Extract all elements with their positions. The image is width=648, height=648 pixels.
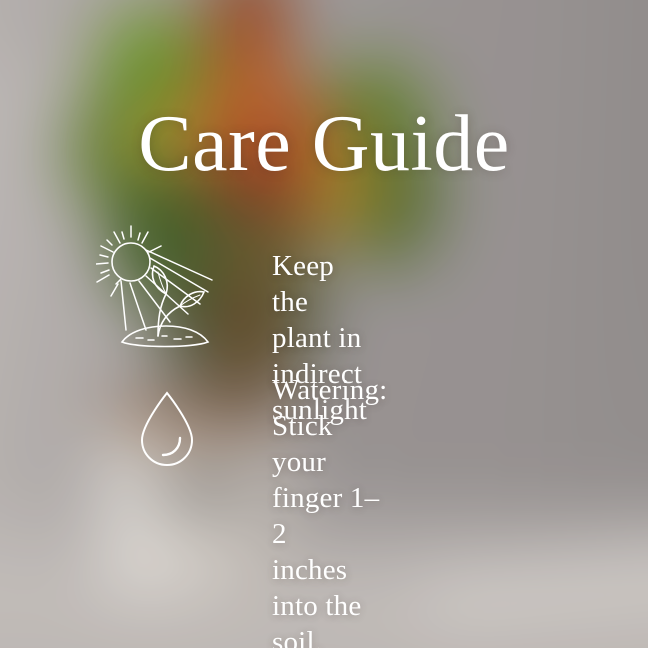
card-content: Care Guide [0, 0, 648, 648]
sun-seedling-icon [96, 218, 214, 357]
water-drop-icon [136, 388, 198, 475]
tip-text-water: Watering: Stick your finger 1–2 inches i… [272, 372, 387, 648]
page-title: Care Guide [0, 104, 648, 184]
care-guide-card: Care Guide [0, 0, 648, 648]
